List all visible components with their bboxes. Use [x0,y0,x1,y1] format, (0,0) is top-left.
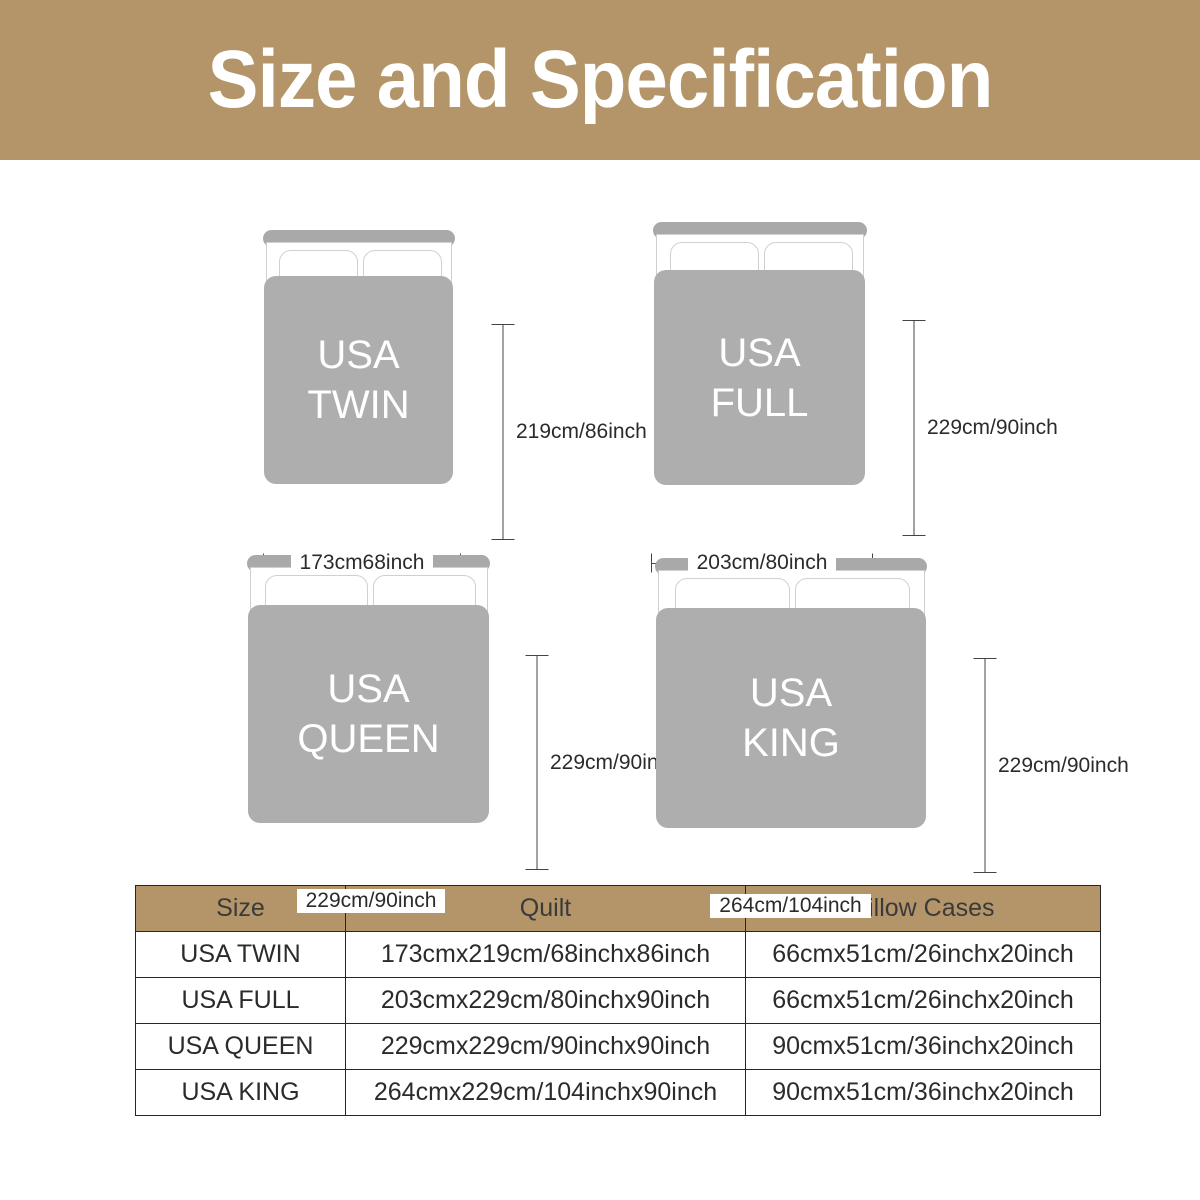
bed-figure-usa-full: USA FULL 229cm/90inch 203cm/80inch [645,212,1005,522]
bed-size-label-line2: FULL [711,378,809,428]
cell-pillow: 90cmx51cm/36inchx20inch [746,1070,1101,1116]
bed-illustration-usa-king: USA KING [648,548,928,888]
width-dimension-label-usa-full: 203cm/80inch [688,551,837,575]
height-dimension-label-usa-twin: 219cm/86inch [513,418,650,446]
cell-size: USA QUEEN [136,1024,346,1070]
dimension-cap-top [492,324,515,325]
quilt-area-usa-queen: USA QUEEN [248,605,489,823]
dimension-stem [503,324,504,540]
table-header-row: Size Quilt Pillow Cases [136,886,1101,932]
bed-size-label-usa-queen: USA QUEEN [248,605,489,823]
table-row: USA QUEEN 229cmx229cm/90inchx90inch 90cm… [136,1024,1101,1070]
bed-figure-usa-king: USA KING 229cm/90inch 264cm/104inch [648,548,1078,858]
dimension-cap-bottom [974,872,997,873]
height-dimension-usa-full: 229cm/90inch [902,320,926,536]
bed-size-label-line2: KING [742,718,840,768]
quilt-area-usa-twin: USA TWIN [264,276,453,484]
dimension-cap-top [526,655,549,656]
width-dimension-label-usa-queen: 229cm/90inch [297,889,446,913]
bed-size-label-line2: TWIN [307,380,409,430]
bed-size-label-usa-twin: USA TWIN [264,276,453,484]
table-row: USA KING 264cmx229cm/104inchx90inch 90cm… [136,1070,1101,1116]
cell-quilt: 173cmx219cm/68inchx86inch [346,932,746,978]
cell-quilt: 203cmx229cm/80inchx90inch [346,978,746,1024]
page-title: Size and Specification [42,0,1158,160]
dimension-stem [914,320,915,536]
width-dimension-usa-twin: 173cm68inch [263,552,461,574]
cell-quilt: 264cmx229cm/104inchx90inch [346,1070,746,1116]
dimension-cap-bottom [903,535,926,536]
cell-pillow: 66cmx51cm/26inchx20inch [746,932,1101,978]
cell-pillow: 90cmx51cm/36inchx20inch [746,1024,1101,1070]
dimension-cap-top [974,658,997,659]
bed-figure-usa-twin: USA TWIN 219cm/86inch 173cm68inch [255,220,585,520]
table-row: USA FULL 203cmx229cm/80inchx90inch 66cmx… [136,978,1101,1024]
bed-size-label-line1: USA [750,668,832,718]
height-dimension-usa-queen: 229cm/90inch [525,655,549,870]
bed-size-label-line1: USA [718,328,800,378]
height-dimension-label-usa-full: 229cm/90inch [924,414,1061,442]
dimension-cap-bottom [526,869,549,870]
bed-illustration-usa-queen: USA QUEEN [240,545,492,885]
specification-table: Size Quilt Pillow Cases USA TWIN 173cmx2… [135,885,1101,1116]
quilt-area-usa-full: USA FULL [654,270,865,485]
table-body: USA TWIN 173cmx219cm/68inchx86inch 66cmx… [136,932,1101,1116]
cell-size: USA FULL [136,978,346,1024]
dimension-cap-top [903,320,926,321]
table-row: USA TWIN 173cmx219cm/68inchx86inch 66cmx… [136,932,1101,978]
bed-illustration-usa-full: USA FULL [645,212,867,552]
height-dimension-usa-twin: 219cm/86inch [491,324,515,540]
cell-size: USA KING [136,1070,346,1116]
bed-size-label-line1: USA [327,664,409,714]
dimension-stem [985,658,986,873]
bed-size-label-line2: QUEEN [297,714,439,764]
bed-size-label-usa-king: USA KING [656,608,926,828]
height-dimension-usa-king: 229cm/90inch [973,658,997,873]
cell-quilt: 229cmx229cm/90inchx90inch [346,1024,746,1070]
height-dimension-label-usa-king: 229cm/90inch [995,752,1132,780]
bed-figure-usa-queen: USA QUEEN 229cm/90inch 229cm/90inch [240,545,620,855]
cell-pillow: 66cmx51cm/26inchx20inch [746,978,1101,1024]
width-dimension-label-usa-king: 264cm/104inch [710,894,870,918]
quilt-area-usa-king: USA KING [656,608,926,828]
dimension-cap-bottom [492,539,515,540]
width-dimension-label-usa-twin: 173cm68inch [291,551,434,575]
header-banner: Size and Specification [0,0,1200,160]
dimension-stem [537,655,538,870]
bed-illustration-usa-twin: USA TWIN [255,220,455,550]
table-head: Size Quilt Pillow Cases [136,886,1101,932]
cell-size: USA TWIN [136,932,346,978]
bed-size-label-line1: USA [317,330,399,380]
bed-size-label-usa-full: USA FULL [654,270,865,485]
bed-diagrams-section: USA TWIN 219cm/86inch 173cm68inch [0,160,1200,875]
